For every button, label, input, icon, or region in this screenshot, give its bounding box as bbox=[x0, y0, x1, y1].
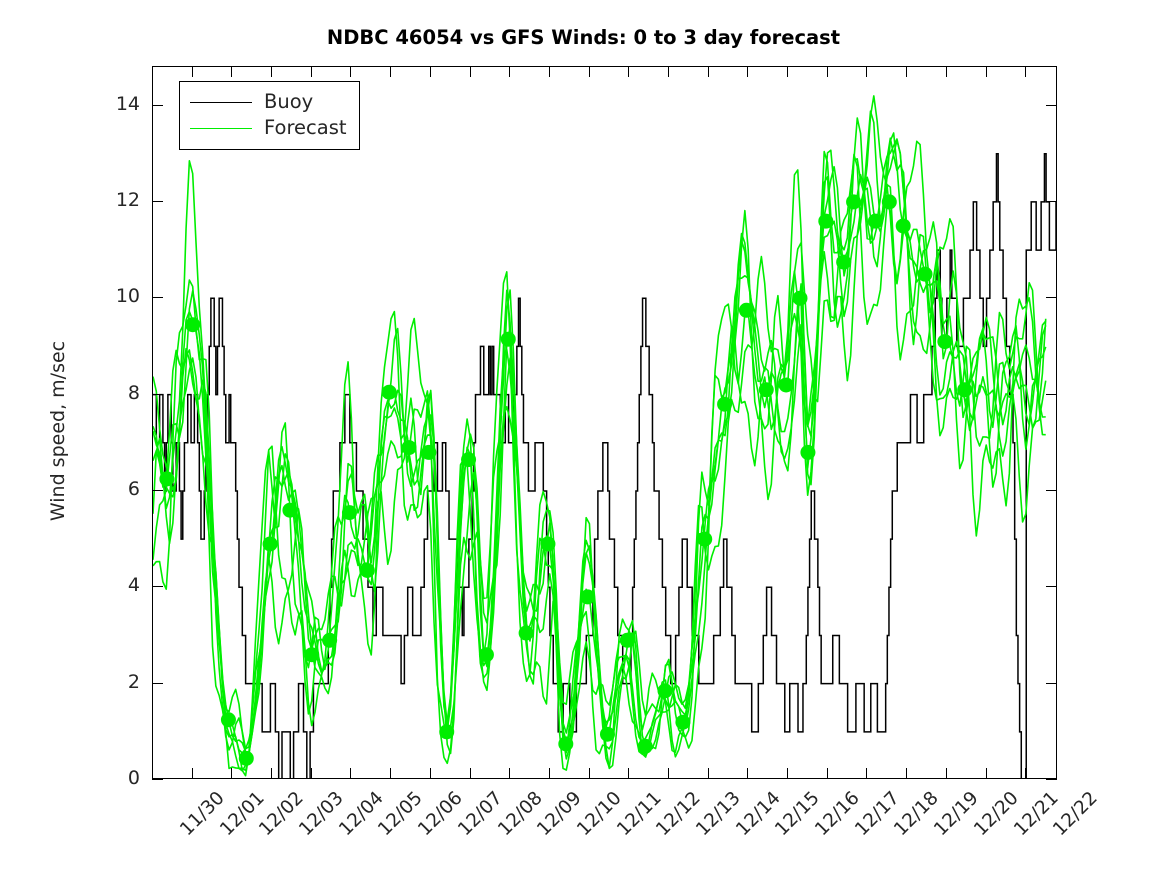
x-tick-label: 12/04 bbox=[336, 789, 387, 840]
x-tick-mark bbox=[152, 768, 153, 779]
forecast-marker bbox=[793, 291, 808, 306]
x-tick-label: 12/05 bbox=[376, 789, 427, 840]
x-tick-label: 12/21 bbox=[1011, 789, 1062, 840]
x-tick-mark bbox=[827, 768, 828, 779]
x-tick-mark bbox=[192, 768, 193, 779]
x-tick-label: 12/07 bbox=[455, 789, 506, 840]
forecast-marker bbox=[638, 739, 653, 754]
forecast-marker bbox=[360, 563, 375, 578]
y-tick-mark-right bbox=[1046, 201, 1057, 202]
x-tick-label: 12/14 bbox=[733, 789, 784, 840]
y-tick-label: 2 bbox=[128, 673, 140, 692]
y-tick-mark-right bbox=[1046, 683, 1057, 684]
x-tick-mark bbox=[589, 768, 590, 779]
page-title: NDBC 46054 vs GFS Winds: 0 to 3 day fore… bbox=[0, 26, 1167, 49]
x-tick-mark-top bbox=[787, 66, 788, 77]
x-tick-mark-top bbox=[231, 66, 232, 77]
forecast-marker bbox=[818, 214, 833, 229]
x-tick-mark-top bbox=[1025, 66, 1026, 77]
forecast-marker bbox=[759, 382, 774, 397]
y-tick-mark-right bbox=[1046, 586, 1057, 587]
x-tick-label: 12/17 bbox=[852, 789, 903, 840]
x-tick-label: 12/15 bbox=[773, 789, 824, 840]
x-tick-mark bbox=[747, 768, 748, 779]
forecast-marker bbox=[882, 194, 897, 209]
y-tick-mark-right bbox=[1046, 779, 1057, 780]
forecast-marker bbox=[957, 382, 972, 397]
x-tick-mark-top bbox=[152, 66, 153, 77]
y-tick-label: 10 bbox=[116, 287, 140, 306]
y-tick-mark-right bbox=[1046, 105, 1057, 106]
y-tick-label: 8 bbox=[128, 384, 140, 403]
plot-svg bbox=[153, 67, 1057, 779]
x-tick-mark bbox=[350, 768, 351, 779]
forecast-marker bbox=[739, 303, 754, 318]
wind-speed-chart-figure: NDBC 46054 vs GFS Winds: 0 to 3 day fore… bbox=[0, 0, 1167, 875]
forecast-marker bbox=[501, 332, 516, 347]
forecast-marker bbox=[717, 397, 732, 412]
x-tick-mark bbox=[866, 768, 867, 779]
x-tick-mark bbox=[430, 768, 431, 779]
forecast-marker bbox=[421, 445, 436, 460]
forecast-marker bbox=[221, 712, 236, 727]
forecast-marker bbox=[479, 647, 494, 662]
y-tick-mark bbox=[152, 201, 163, 202]
forecast-marker bbox=[402, 440, 417, 455]
forecast-marker bbox=[675, 715, 690, 730]
forecast-marker bbox=[342, 505, 357, 520]
x-tick-mark-top bbox=[390, 66, 391, 77]
x-tick-label: 12/19 bbox=[932, 789, 983, 840]
x-tick-mark-top bbox=[311, 66, 312, 77]
x-tick-mark-top bbox=[628, 66, 629, 77]
chart-legend[interactable]: Buoy Forecast bbox=[179, 81, 360, 150]
legend-label-forecast: Forecast bbox=[264, 118, 347, 138]
x-tick-mark bbox=[628, 768, 629, 779]
y-tick-mark bbox=[152, 586, 163, 587]
x-tick-label: 12/22 bbox=[1051, 789, 1102, 840]
y-tick-mark bbox=[152, 394, 163, 395]
y-tick-mark bbox=[152, 105, 163, 106]
forecast-marker bbox=[263, 536, 278, 551]
forecast-marker bbox=[600, 727, 615, 742]
forecast-marker bbox=[937, 334, 952, 349]
y-tick-mark bbox=[152, 683, 163, 684]
forecast-marker bbox=[558, 736, 573, 751]
forecast-marker bbox=[846, 194, 861, 209]
legend-item-forecast: Forecast bbox=[190, 115, 347, 141]
x-tick-label: 12/08 bbox=[495, 789, 546, 840]
forecast-marker bbox=[519, 626, 534, 641]
x-tick-mark-top bbox=[589, 66, 590, 77]
forecast-marker bbox=[580, 589, 595, 604]
legend-item-buoy: Buoy bbox=[190, 89, 347, 115]
x-tick-mark-top bbox=[350, 66, 351, 77]
x-tick-label: 12/02 bbox=[257, 789, 308, 840]
x-tick-label: 12/10 bbox=[575, 789, 626, 840]
x-tick-mark bbox=[906, 768, 907, 779]
buoy-line bbox=[153, 106, 1057, 779]
forecast-marker bbox=[185, 317, 200, 332]
forecast-marker-group bbox=[159, 194, 972, 765]
forecast-marker bbox=[658, 683, 673, 698]
x-tick-mark-top bbox=[470, 66, 471, 77]
x-tick-mark-top bbox=[986, 66, 987, 77]
legend-label-buoy: Buoy bbox=[264, 92, 313, 112]
x-tick-mark bbox=[787, 768, 788, 779]
x-tick-mark bbox=[1025, 768, 1026, 779]
forecast-marker bbox=[461, 452, 476, 467]
buoy-series bbox=[153, 106, 1057, 779]
forecast-marker bbox=[239, 751, 254, 766]
x-tick-mark bbox=[549, 768, 550, 779]
x-tick-mark bbox=[470, 768, 471, 779]
y-tick-label: 4 bbox=[128, 576, 140, 595]
forecast-marker bbox=[697, 532, 712, 547]
x-tick-mark-top bbox=[827, 66, 828, 77]
x-tick-mark-top bbox=[708, 66, 709, 77]
x-tick-mark-top bbox=[668, 66, 669, 77]
legend-swatch-forecast bbox=[190, 128, 252, 129]
x-tick-mark bbox=[390, 768, 391, 779]
y-axis-tick-labels: 02468101214 bbox=[90, 0, 140, 875]
y-tick-label: 6 bbox=[128, 480, 140, 499]
y-tick-mark bbox=[152, 490, 163, 491]
x-tick-mark-top bbox=[946, 66, 947, 77]
forecast-marker bbox=[382, 385, 397, 400]
forecast-marker bbox=[439, 724, 454, 739]
x-tick-mark bbox=[708, 768, 709, 779]
forecast-marker bbox=[896, 218, 911, 233]
x-tick-mark bbox=[311, 768, 312, 779]
x-tick-label: 12/06 bbox=[416, 789, 467, 840]
y-tick-label: 0 bbox=[128, 769, 140, 788]
forecast-marker bbox=[304, 647, 319, 662]
y-tick-mark bbox=[152, 779, 163, 780]
x-tick-mark-top bbox=[192, 66, 193, 77]
x-tick-mark-top bbox=[747, 66, 748, 77]
y-tick-label: 12 bbox=[116, 191, 140, 210]
x-tick-mark-top bbox=[271, 66, 272, 77]
x-tick-mark bbox=[271, 768, 272, 779]
forecast-marker bbox=[620, 633, 635, 648]
x-tick-label: 12/03 bbox=[297, 789, 348, 840]
forecast-marker bbox=[779, 377, 794, 392]
x-tick-mark-top bbox=[430, 66, 431, 77]
x-tick-mark bbox=[668, 768, 669, 779]
forecast-marker bbox=[322, 633, 337, 648]
x-tick-mark bbox=[231, 768, 232, 779]
forecast-marker bbox=[836, 255, 851, 270]
x-tick-mark-top bbox=[549, 66, 550, 77]
x-tick-label: 12/18 bbox=[892, 789, 943, 840]
y-tick-mark-right bbox=[1046, 297, 1057, 298]
forecast-marker bbox=[800, 445, 815, 460]
x-tick-mark-top bbox=[866, 66, 867, 77]
forecast-marker bbox=[540, 536, 555, 551]
x-tick-mark-top bbox=[509, 66, 510, 77]
x-tick-mark bbox=[509, 768, 510, 779]
forecast-marker bbox=[918, 267, 933, 282]
x-tick-mark bbox=[986, 768, 987, 779]
y-tick-label: 14 bbox=[116, 95, 140, 114]
y-tick-mark bbox=[152, 297, 163, 298]
x-tick-label: 12/12 bbox=[654, 789, 705, 840]
plot-area: Buoy Forecast bbox=[152, 66, 1057, 779]
forecast-marker bbox=[868, 214, 883, 229]
x-tick-label: 12/13 bbox=[694, 789, 745, 840]
x-tick-mark-top bbox=[906, 66, 907, 77]
forecast-line bbox=[153, 96, 1046, 776]
x-tick-label: 12/20 bbox=[971, 789, 1022, 840]
x-tick-label: 12/11 bbox=[614, 789, 665, 840]
y-tick-mark-right bbox=[1046, 490, 1057, 491]
forecast-marker bbox=[282, 503, 297, 518]
forecast-marker bbox=[159, 471, 174, 486]
x-tick-label: 12/16 bbox=[813, 789, 864, 840]
forecast-series bbox=[153, 96, 1046, 776]
x-tick-label: 12/01 bbox=[217, 789, 268, 840]
y-tick-mark-right bbox=[1046, 394, 1057, 395]
x-tick-label: 12/09 bbox=[535, 789, 586, 840]
y-axis-label: Wind speed, m/sec bbox=[47, 151, 69, 711]
x-tick-mark bbox=[946, 768, 947, 779]
x-tick-label: 11/30 bbox=[178, 789, 229, 840]
legend-swatch-buoy bbox=[190, 102, 252, 103]
